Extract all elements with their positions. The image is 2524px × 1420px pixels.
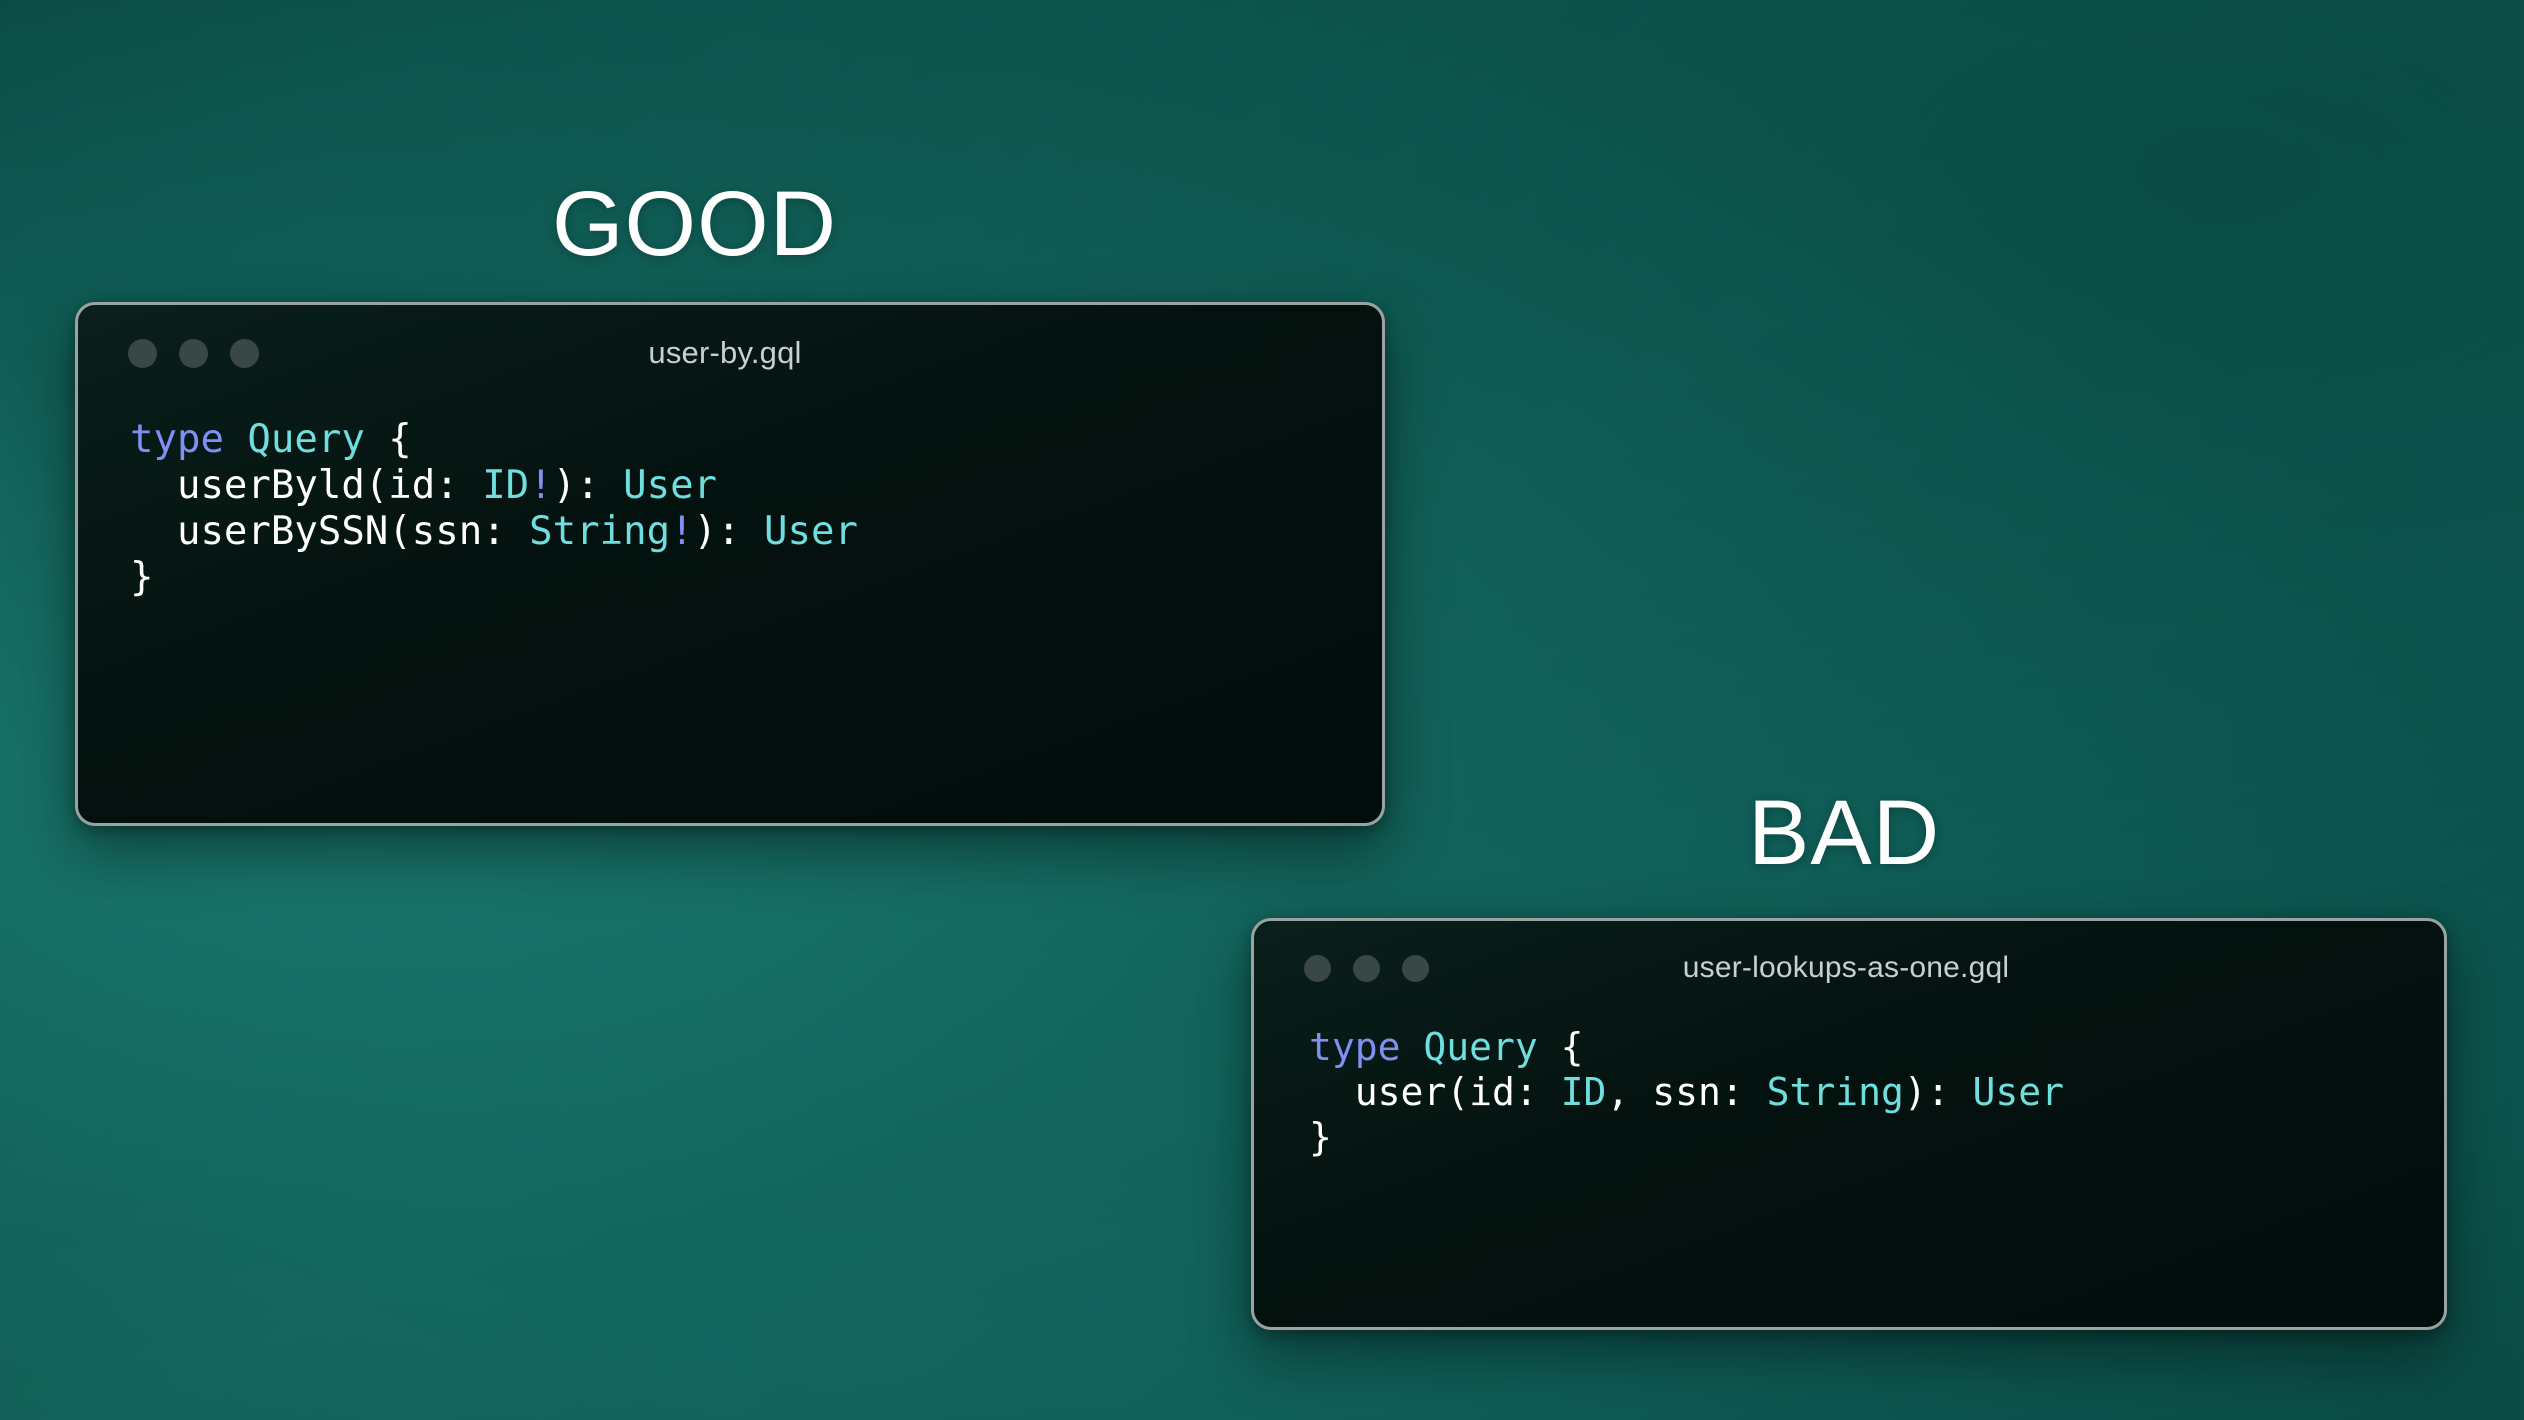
code-token-plain: { [1538, 1025, 1584, 1069]
code-token-type: User [1973, 1070, 2065, 1114]
code-token-plain: , ssn: [1606, 1070, 1766, 1114]
minimize-dot-icon[interactable] [1353, 955, 1380, 982]
code-token-type: Query [247, 417, 364, 462]
code-token-type: User [623, 463, 717, 508]
code-token-plain: ): [553, 463, 623, 508]
code-token-type: String [1767, 1070, 1904, 1114]
code-token-keyword: type [1309, 1025, 1401, 1069]
minimize-dot-icon[interactable] [179, 339, 208, 368]
traffic-light-group [1304, 955, 1429, 982]
code-token-bang: ! [529, 463, 552, 508]
code-token-plain: } [1309, 1115, 1332, 1159]
code-token-type: User [764, 509, 858, 554]
bad-example-label: BAD [1748, 787, 1940, 879]
window-title-bad: user-lookups-as-one.gql [1251, 951, 2444, 985]
code-token-bang: ! [670, 509, 693, 554]
code-token-type: ID [1561, 1070, 1607, 1114]
code-line: user(id: ID, ssn: String): User [1309, 1070, 2444, 1115]
close-dot-icon[interactable] [1304, 955, 1331, 982]
code-line: userBySSN(ssn: String!): User [130, 509, 1382, 555]
code-token-plain [1401, 1025, 1424, 1069]
window-titlebar: user-by.gql [78, 305, 1382, 401]
code-token-type: String [529, 509, 670, 554]
code-token-keyword: type [130, 417, 224, 462]
window-title-good: user-by.gql [75, 335, 1382, 371]
code-token-type: Query [1423, 1025, 1537, 1069]
maximize-dot-icon[interactable] [1402, 955, 1429, 982]
code-token-plain: user(id: [1309, 1070, 1561, 1114]
code-window-bad: user-lookups-as-one.gql type Query { use… [1251, 918, 2447, 1330]
code-token-plain: userBySSN(ssn: [130, 509, 529, 554]
code-window-good: user-by.gql type Query { userByld(id: ID… [75, 302, 1385, 826]
code-token-plain: userByld(id: [130, 463, 482, 508]
code-line: type Query { [130, 417, 1382, 463]
code-token-plain: ): [1904, 1070, 1973, 1114]
code-line: type Query { [1309, 1025, 2444, 1070]
good-example-label: GOOD [552, 178, 837, 270]
code-token-plain: } [130, 555, 153, 600]
code-token-plain: ): [694, 509, 764, 554]
code-line: } [130, 555, 1382, 601]
code-token-plain [224, 417, 247, 462]
maximize-dot-icon[interactable] [230, 339, 259, 368]
code-block-good: type Query { userByld(id: ID!): User use… [78, 401, 1382, 601]
code-token-plain: { [365, 417, 412, 462]
code-token-type: ID [482, 463, 529, 508]
traffic-light-group [128, 339, 259, 368]
code-line: userByld(id: ID!): User [130, 463, 1382, 509]
code-line: } [1309, 1115, 2444, 1160]
close-dot-icon[interactable] [128, 339, 157, 368]
window-titlebar: user-lookups-as-one.gql [1254, 921, 2444, 1015]
code-block-bad: type Query { user(id: ID, ssn: String): … [1254, 1015, 2444, 1159]
